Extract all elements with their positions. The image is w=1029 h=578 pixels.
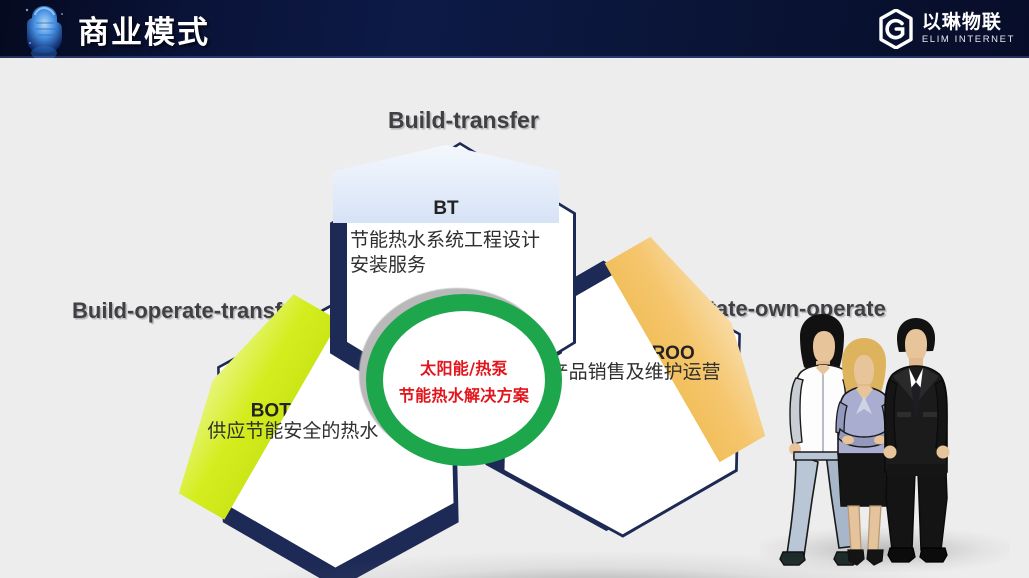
diagram-stage: Build-transfer Build-operate-transfer Re… (0, 58, 1029, 578)
three-business-people-illustration (766, 294, 996, 576)
center-line-1: 太阳能/热泵 (420, 355, 508, 379)
caption-build-transfer: Build-transfer (388, 107, 539, 134)
hex-bt-band: BT (333, 145, 559, 223)
logo-name-cn: 以琳物联 (922, 13, 1015, 32)
page-title-text: 商业模式 (78, 7, 210, 52)
center-line-2: 节能热水解决方案 (399, 382, 529, 406)
logo-name-en: ELIM INTERNET (922, 35, 1015, 45)
slide: 商业模式 以琳物联 ELIM INTERNET Build-transfer B… (0, 0, 1029, 578)
fist-icon (18, 0, 70, 58)
hex-bt-badge: BT (433, 198, 458, 223)
brand-logo: 以琳物联 ELIM INTERNET (877, 7, 1015, 51)
slide-header: 商业模式 以琳物联 ELIM INTERNET (0, 0, 1029, 58)
center-ring-label: 太阳能/热泵 节能热水解决方案 (366, 294, 562, 466)
page-title: 商业模式 (78, 4, 210, 54)
hex-bt-body-text: 节能热水系统工程设计 安装服务 (350, 228, 542, 278)
hex-g-logo-icon (877, 9, 915, 49)
